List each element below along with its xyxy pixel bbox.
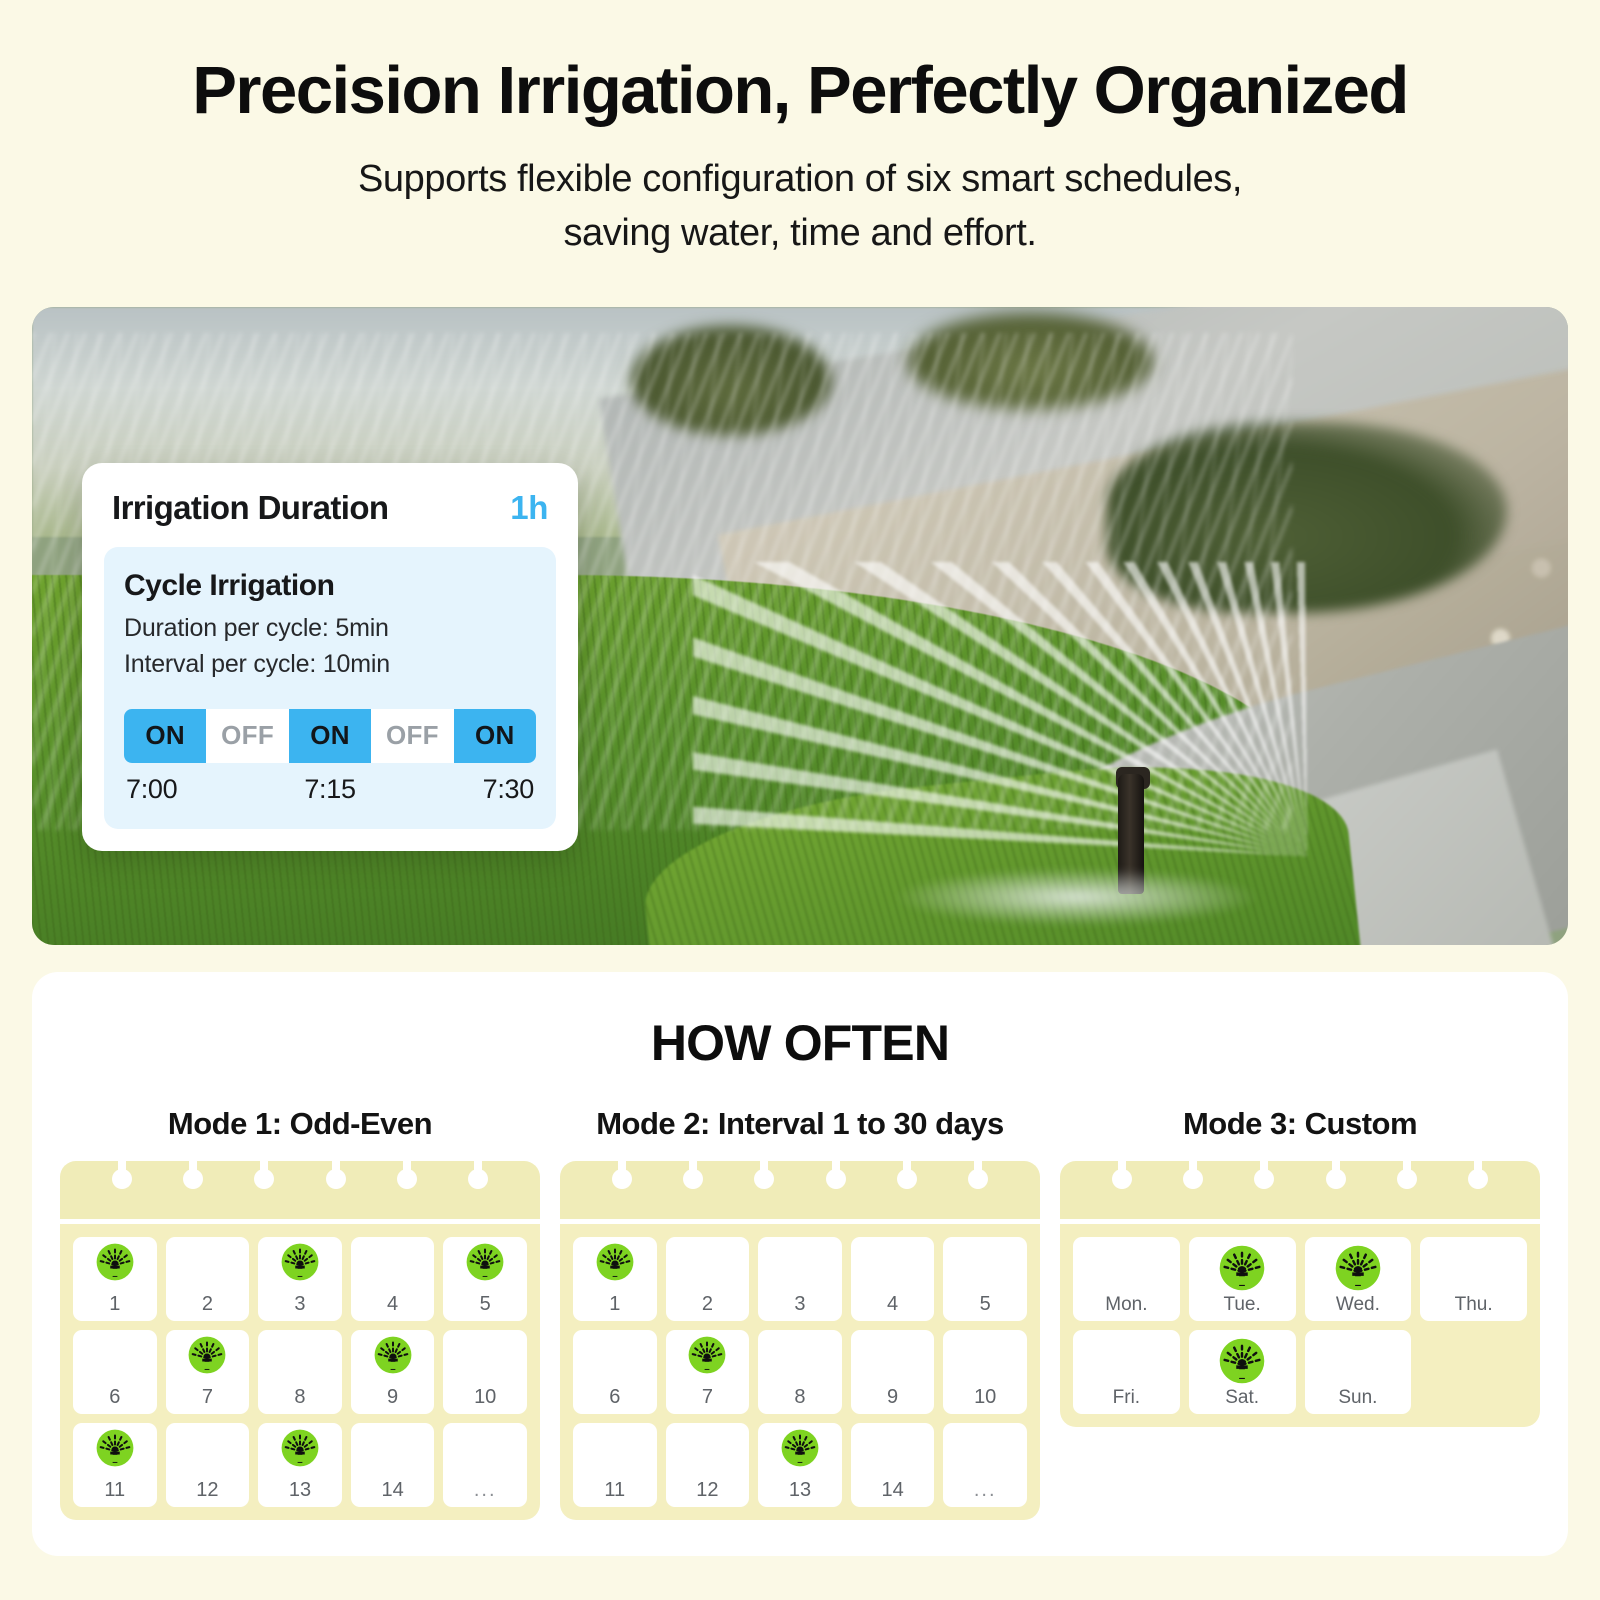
how-often-panel: HOW OFTEN Mode 1: Odd-Even xyxy=(32,972,1568,1556)
calendar-weekday-label: Sat. xyxy=(1225,1388,1259,1407)
calendar-day-cell[interactable]: 1 xyxy=(73,1237,157,1321)
sprinkler-icon xyxy=(1335,1245,1381,1291)
calendar-day-label: 5 xyxy=(980,1294,991,1314)
irrigation-duration-card: Irrigation Duration 1h Cycle Irrigation … xyxy=(82,463,578,851)
calendar-header-band xyxy=(60,1161,540,1219)
calendar-weekday-cell[interactable]: Mon. xyxy=(1073,1237,1180,1321)
calendar-day-label: 2 xyxy=(202,1294,213,1314)
calendar-day-cell[interactable]: 1 xyxy=(573,1237,657,1321)
calendar-ellipsis-label: ... xyxy=(474,1480,497,1500)
calendar-body: 1234567891011121314... xyxy=(60,1224,540,1520)
calendar-day-label: 9 xyxy=(387,1387,398,1407)
calendar-day-cell[interactable]: 13 xyxy=(758,1423,842,1507)
mode-2-title: Mode 2: Interval 1 to 30 days xyxy=(560,1106,1040,1142)
calendar-day-label: 11 xyxy=(604,1480,625,1500)
calendar-day-label: 14 xyxy=(381,1480,403,1500)
calendar-body: Mon.Tue.Wed.Thu.Fri.Sat.Sun. xyxy=(1060,1224,1540,1427)
calendar-day-label: 14 xyxy=(881,1480,903,1500)
calendar-day-label: 3 xyxy=(794,1294,805,1314)
calendar-day-cell[interactable]: 2 xyxy=(166,1237,250,1321)
mode-3: Mode 3: Custom Mon.Tue.Wed.Thu.Fri.Sat.S… xyxy=(1060,1106,1540,1520)
calendar-day-cell[interactable]: 9 xyxy=(851,1330,935,1414)
sprinkler-icon xyxy=(188,1336,226,1374)
cycle-segment-on-1[interactable]: ON xyxy=(124,709,206,763)
calendar-day-cell[interactable]: 11 xyxy=(73,1423,157,1507)
calendar-day-cell[interactable]: 7 xyxy=(166,1330,250,1414)
calendar-day-label: 12 xyxy=(696,1480,718,1500)
calendar-grid: Mon.Tue.Wed.Thu.Fri.Sat.Sun. xyxy=(1073,1237,1527,1414)
calendar-day-label: 5 xyxy=(480,1294,491,1314)
calendar-day-label: 1 xyxy=(109,1294,120,1314)
sprinkler-icon xyxy=(781,1429,819,1467)
calendar-ellipsis-label: ... xyxy=(974,1480,997,1500)
calendar-day-cell[interactable]: 14 xyxy=(351,1423,435,1507)
duration-card-header: Irrigation Duration 1h xyxy=(104,489,556,547)
calendar-day-label: 7 xyxy=(702,1387,713,1407)
sprinkler-icon xyxy=(466,1243,504,1281)
calendar-day-label: 13 xyxy=(289,1480,311,1500)
calendar-weekday-cell[interactable]: Wed. xyxy=(1305,1237,1412,1321)
calendar-weekday-cell[interactable]: Sun. xyxy=(1305,1330,1412,1414)
calendar-day-cell[interactable]: 5 xyxy=(943,1237,1027,1321)
how-often-title: HOW OFTEN xyxy=(32,972,1568,1072)
calendar-day-label: 11 xyxy=(104,1480,125,1500)
calendar-rings xyxy=(1060,1161,1540,1219)
calendar-weekday-label: Sun. xyxy=(1338,1388,1377,1407)
calendar-header-band xyxy=(560,1161,1040,1219)
calendar-day-label: 6 xyxy=(109,1387,120,1407)
calendar-day-cell[interactable]: ... xyxy=(443,1423,527,1507)
calendar-day-cell[interactable]: 3 xyxy=(258,1237,342,1321)
sprinkler-icon xyxy=(281,1429,319,1467)
mode-2: Mode 2: Interval 1 to 30 days 1234567891… xyxy=(560,1106,1040,1520)
cycle-time-row: 7:00 7:15 7:30 xyxy=(124,774,536,805)
cycle-segment-on-3[interactable]: ON xyxy=(454,709,536,763)
calendar-day-label: 4 xyxy=(387,1294,398,1314)
mode-1-calendar[interactable]: 1234567891011121314... xyxy=(60,1161,540,1520)
calendar-day-label: 4 xyxy=(887,1294,898,1314)
calendar-day-label: 10 xyxy=(474,1387,496,1407)
calendar-grid: 1234567891011121314... xyxy=(73,1237,527,1507)
calendar-day-cell[interactable]: ... xyxy=(943,1423,1027,1507)
calendar-day-cell[interactable]: 5 xyxy=(443,1237,527,1321)
calendar-day-label: 2 xyxy=(702,1294,713,1314)
calendar-day-cell[interactable]: 4 xyxy=(851,1237,935,1321)
sprinkler-icon xyxy=(1219,1338,1265,1384)
cycle-interval-line: Interval per cycle: 10min xyxy=(124,650,536,679)
sprinkler-icon xyxy=(1219,1245,1265,1291)
sprinkler-icon xyxy=(688,1336,726,1374)
page-title: Precision Irrigation, Perfectly Organize… xyxy=(0,0,1600,127)
page-subtitle: Supports flexible configuration of six s… xyxy=(0,153,1600,261)
mode-3-calendar[interactable]: Mon.Tue.Wed.Thu.Fri.Sat.Sun. xyxy=(1060,1161,1540,1427)
sprinkler-icon xyxy=(96,1429,134,1467)
calendar-weekday-label: Fri. xyxy=(1113,1388,1140,1407)
calendar-day-cell[interactable]: 6 xyxy=(73,1330,157,1414)
calendar-weekday-label: Thu. xyxy=(1455,1295,1493,1314)
calendar-body: 1234567891011121314... xyxy=(560,1224,1040,1520)
calendar-day-label: 10 xyxy=(974,1387,996,1407)
calendar-day-cell[interactable]: 2 xyxy=(666,1237,750,1321)
mode-1-title: Mode 1: Odd-Even xyxy=(60,1106,540,1142)
calendar-weekday-cell[interactable]: Sat. xyxy=(1189,1330,1296,1414)
calendar-day-cell[interactable]: 7 xyxy=(666,1330,750,1414)
sprinkler-icon xyxy=(374,1336,412,1374)
mode-1: Mode 1: Odd-Even 1234567891011121314... xyxy=(60,1106,540,1520)
calendar-day-cell[interactable]: 14 xyxy=(851,1423,935,1507)
cycle-segment-on-2[interactable]: ON xyxy=(289,709,371,763)
calendar-day-cell[interactable]: 8 xyxy=(258,1330,342,1414)
sprinkler-icon xyxy=(281,1243,319,1281)
calendar-day-cell[interactable]: 4 xyxy=(351,1237,435,1321)
mode-3-title: Mode 3: Custom xyxy=(1060,1106,1540,1142)
calendar-weekday-label: Mon. xyxy=(1105,1295,1147,1314)
calendar-day-cell[interactable]: 11 xyxy=(573,1423,657,1507)
modes-row: Mode 1: Odd-Even 1234567891011121314... xyxy=(32,1106,1568,1520)
calendar-day-label: 12 xyxy=(196,1480,218,1500)
calendar-day-label: 8 xyxy=(794,1387,805,1407)
cycle-time-middle: 7:15 xyxy=(262,774,398,805)
cycle-segment-off-2[interactable]: OFF xyxy=(371,709,453,763)
calendar-header-band xyxy=(1060,1161,1540,1219)
calendar-day-cell[interactable]: 3 xyxy=(758,1237,842,1321)
cycle-time-end: 7:30 xyxy=(398,774,534,805)
calendar-day-label: 3 xyxy=(294,1294,305,1314)
calendar-weekday-cell[interactable]: Thu. xyxy=(1420,1237,1527,1321)
cycle-segment-off-1[interactable]: OFF xyxy=(206,709,288,763)
calendar-day-cell[interactable]: 6 xyxy=(573,1330,657,1414)
calendar-rings xyxy=(60,1161,540,1219)
duration-value[interactable]: 1h xyxy=(510,489,548,527)
calendar-day-label: 7 xyxy=(202,1387,213,1407)
duration-card-title: Irrigation Duration xyxy=(112,489,388,527)
calendar-grid: 1234567891011121314... xyxy=(573,1237,1027,1507)
cycle-time-start: 7:00 xyxy=(126,774,262,805)
mode-2-calendar[interactable]: 1234567891011121314... xyxy=(560,1161,1040,1520)
page-subtitle-line-1: Supports flexible configuration of six s… xyxy=(0,153,1600,207)
calendar-day-label: 9 xyxy=(887,1387,898,1407)
calendar-day-label: 8 xyxy=(294,1387,305,1407)
calendar-day-label: 6 xyxy=(609,1387,620,1407)
cycle-irrigation-title: Cycle Irrigation xyxy=(124,569,536,603)
photo-water-puddle xyxy=(892,868,1261,925)
calendar-weekday-cell[interactable]: Fri. xyxy=(1073,1330,1180,1414)
cycle-irrigation-panel: Cycle Irrigation Duration per cycle: 5mi… xyxy=(104,547,556,829)
calendar-day-cell[interactable]: 13 xyxy=(258,1423,342,1507)
calendar-day-cell[interactable]: 12 xyxy=(166,1423,250,1507)
calendar-day-cell[interactable]: 12 xyxy=(666,1423,750,1507)
calendar-day-cell[interactable]: 10 xyxy=(443,1330,527,1414)
calendar-day-label: 1 xyxy=(609,1294,620,1314)
calendar-weekday-label: Wed. xyxy=(1336,1295,1380,1314)
calendar-day-cell[interactable]: 8 xyxy=(758,1330,842,1414)
sprinkler-icon xyxy=(96,1243,134,1281)
calendar-day-cell[interactable]: 9 xyxy=(351,1330,435,1414)
calendar-day-cell[interactable]: 10 xyxy=(943,1330,1027,1414)
calendar-weekday-label: Tue. xyxy=(1223,1295,1260,1314)
calendar-day-label: 13 xyxy=(789,1480,811,1500)
page-subtitle-line-2: saving water, time and effort. xyxy=(0,207,1600,261)
cycle-segment-row: ON OFF ON OFF ON xyxy=(124,709,536,763)
cycle-duration-line: Duration per cycle: 5min xyxy=(124,614,536,643)
sprinkler-icon xyxy=(596,1243,634,1281)
calendar-rings xyxy=(560,1161,1040,1219)
calendar-weekday-cell[interactable]: Tue. xyxy=(1189,1237,1296,1321)
